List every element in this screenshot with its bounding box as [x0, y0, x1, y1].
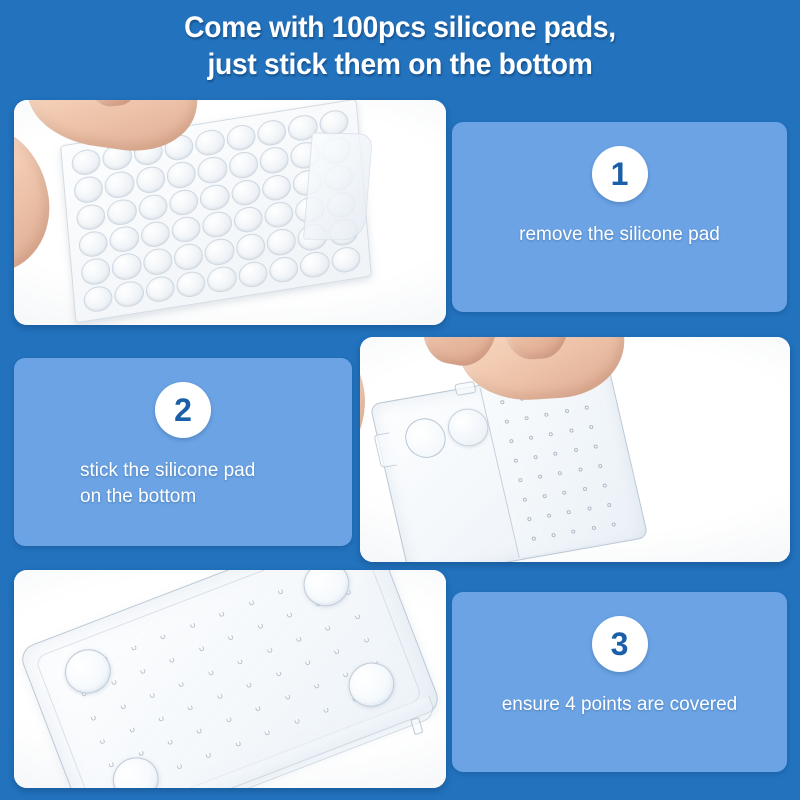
tray-drain-hole — [587, 507, 592, 512]
clear-tray-underside — [18, 570, 443, 788]
step-2-caption-line-1: stick the silicone pad — [80, 458, 352, 484]
tray-drain-hole — [205, 752, 211, 758]
tray-drain-hole — [217, 693, 223, 699]
tray-drain-hole — [532, 537, 537, 542]
tray-drain-hole — [187, 704, 193, 710]
step-3-number-badge: 3 — [592, 616, 648, 672]
tray-drain-hole — [500, 399, 505, 404]
silicone-pad — [104, 170, 135, 200]
step-1-photo — [14, 100, 446, 325]
silicone-pad — [204, 237, 235, 267]
pad-sheet-peel-corner — [303, 132, 373, 240]
silicone-pad — [330, 245, 361, 275]
tray-drain-hole — [235, 741, 241, 747]
hand-palm — [14, 112, 62, 290]
step-2-caption-line-2: on the bottom — [80, 484, 352, 510]
step-3-photo-scene — [14, 570, 446, 788]
tray-drain-hole — [264, 729, 270, 735]
tray-drain-hole — [131, 645, 137, 651]
step-2-number-badge: 2 — [155, 382, 211, 438]
step-1-photo-scene — [14, 100, 446, 325]
silicone-pad — [228, 150, 259, 180]
tray-drain-hole — [589, 425, 594, 430]
tray-drain-hole — [228, 635, 234, 641]
tray-drain-hole — [277, 589, 283, 595]
tray-drain-hole — [266, 647, 272, 653]
tray-drain-hole — [314, 683, 320, 689]
silicone-pad — [73, 175, 104, 205]
tray-drain-hole — [593, 444, 598, 449]
tray-drain-hole — [544, 412, 549, 417]
tray-drain-hole — [549, 432, 554, 437]
tray-pad-socket — [401, 415, 449, 461]
step-1-number-badge: 1 — [592, 146, 648, 202]
tray-drain-hole — [363, 637, 369, 643]
tray-drain-hole — [296, 636, 302, 642]
tray-drain-hole — [176, 763, 182, 769]
tray-drain-hole — [558, 471, 563, 476]
silicone-pad — [299, 250, 330, 280]
step-2-number: 2 — [174, 394, 192, 426]
tray-drain-hole — [257, 623, 263, 629]
tray-drain-hole — [533, 455, 538, 460]
tray-drain-hole — [584, 405, 589, 410]
tray-drain-hole — [196, 728, 202, 734]
tray-drain-hole — [286, 612, 292, 618]
tray-drain-hole — [167, 739, 173, 745]
step-3-number: 3 — [611, 628, 629, 660]
tray-drain-hole — [325, 625, 331, 631]
tray-drain-hole — [571, 530, 576, 535]
silicone-pad — [144, 274, 175, 304]
tray-body — [18, 570, 443, 788]
tray-drain-hole — [99, 738, 105, 744]
tray-drain-hole — [551, 533, 556, 538]
step-3-panel: 3 ensure 4 points are covered — [452, 592, 787, 772]
tray-drain-hole — [189, 622, 195, 628]
tray-drain-hole — [323, 707, 329, 713]
tray-drain-hole — [169, 657, 175, 663]
tray-drain-hole — [529, 435, 534, 440]
silicone-pad — [114, 279, 145, 309]
silicone-pad — [256, 118, 287, 148]
silicone-pad — [266, 227, 297, 257]
step-3-caption: ensure 4 points are covered — [452, 692, 787, 718]
tray-drain-hole — [573, 448, 578, 453]
silicone-pad — [197, 155, 228, 185]
tray-drain-hole — [527, 517, 532, 522]
tray-drain-hole — [578, 467, 583, 472]
tray-drain-hole — [504, 419, 509, 424]
step-1-number: 1 — [611, 158, 629, 190]
silicone-pad — [80, 257, 111, 287]
tray-drain-hole — [178, 681, 184, 687]
silicone-pad — [137, 192, 168, 222]
page-title: Come with 100pcs silicone pads, just sti… — [0, 10, 800, 83]
tray-drain-hole — [237, 658, 243, 664]
silicone-pad — [237, 259, 268, 289]
tray-drain-hole — [569, 428, 574, 433]
title-line-1: Come with 100pcs silicone pads, — [24, 10, 776, 47]
tray-drain-hole — [354, 613, 360, 619]
silicone-pad — [78, 229, 109, 259]
tray-drain-hole — [524, 416, 529, 421]
silicone-pad — [109, 224, 140, 254]
silicone-pad — [194, 128, 225, 158]
step-2-photo — [360, 337, 790, 562]
tray-drain-hole — [248, 600, 254, 606]
tray-drain-hole — [140, 668, 146, 674]
tray-drain-hole — [513, 458, 518, 463]
tray-drain-hole — [226, 717, 232, 723]
silicone-pad — [235, 232, 266, 262]
step-2-caption: stick the silicone pad on the bottom — [14, 458, 352, 510]
tray-drain-hole — [553, 451, 558, 456]
tray-lip — [373, 432, 396, 468]
tray-drain-hole — [564, 409, 569, 414]
tray-drain-hole — [255, 706, 261, 712]
tray-drain-hole — [198, 646, 204, 652]
tray-drain-hole — [547, 514, 552, 519]
silicone-pad — [83, 284, 114, 314]
tray-drain-dot-grid — [491, 377, 626, 550]
silicone-pad — [225, 123, 256, 153]
tray-drain-hole — [129, 727, 135, 733]
tray-drain-hole — [582, 487, 587, 492]
tray-drain-hole — [284, 694, 290, 700]
tray-drain-hole — [108, 762, 114, 768]
tray-drain-hole — [90, 715, 96, 721]
tray-drain-hole — [305, 659, 311, 665]
tray-drain-hole — [246, 682, 252, 688]
silicone-pad — [75, 202, 106, 232]
silicone-pad — [135, 165, 166, 195]
tray-drain-hole — [334, 648, 340, 654]
tray-drain-hole — [567, 510, 572, 515]
silicone-pad — [268, 254, 299, 284]
silicone-pad — [259, 145, 290, 175]
silicone-pad — [142, 247, 173, 277]
step-1-caption: remove the silicone pad — [452, 222, 787, 248]
tray-drain-hole — [138, 751, 144, 757]
silicone-pad — [206, 264, 237, 294]
tray-drain-hole — [208, 670, 214, 676]
tray-drain-hole — [562, 490, 567, 495]
silicone-pad — [202, 210, 233, 240]
silicone-pad — [166, 160, 197, 190]
silicone-pad — [173, 242, 204, 272]
tray-drain-hole — [120, 703, 126, 709]
title-line-2: just stick them on the bottom — [24, 47, 776, 84]
tray-tab — [454, 381, 476, 396]
tray-drain-hole — [158, 716, 164, 722]
tray-drain-hole — [542, 494, 547, 499]
tray-drain-hole — [611, 523, 616, 528]
silicone-pad — [175, 269, 206, 299]
silicone-pad — [71, 147, 102, 177]
step-3-photo — [14, 570, 446, 788]
tray-drain-hole — [522, 498, 527, 503]
silicone-pad — [233, 205, 264, 235]
silicone-pad — [261, 173, 292, 203]
tray-drain-hole — [598, 464, 603, 469]
tray-drain-hole — [275, 671, 281, 677]
tray-drain-hole — [219, 611, 225, 617]
step-1-panel: 1 remove the silicone pad — [452, 122, 787, 312]
step-2-panel: 2 stick the silicone pad on the bottom — [14, 358, 352, 546]
tray-drain-hole — [149, 692, 155, 698]
silicone-pad — [140, 220, 171, 250]
silicone-pad — [230, 177, 261, 207]
tray-drain-hole — [518, 478, 523, 483]
silicone-pad — [199, 182, 230, 212]
silicone-pad — [263, 200, 294, 230]
tray-drain-hole — [293, 718, 299, 724]
tray-drain-hole — [160, 634, 166, 640]
silicone-pad — [111, 252, 142, 282]
silicone-pad — [106, 197, 137, 227]
tray-drain-hole — [591, 526, 596, 531]
silicone-pad — [168, 187, 199, 217]
tray-drain-hole — [111, 680, 117, 686]
tray-drain-hole — [607, 503, 612, 508]
step-2-photo-scene — [360, 337, 790, 562]
silicone-pad — [171, 215, 202, 245]
tray-drain-hole — [538, 474, 543, 479]
tray-drain-hole — [509, 439, 514, 444]
tray-drain-hole — [602, 483, 607, 488]
infographic-root: Come with 100pcs silicone pads, just sti… — [0, 0, 800, 800]
